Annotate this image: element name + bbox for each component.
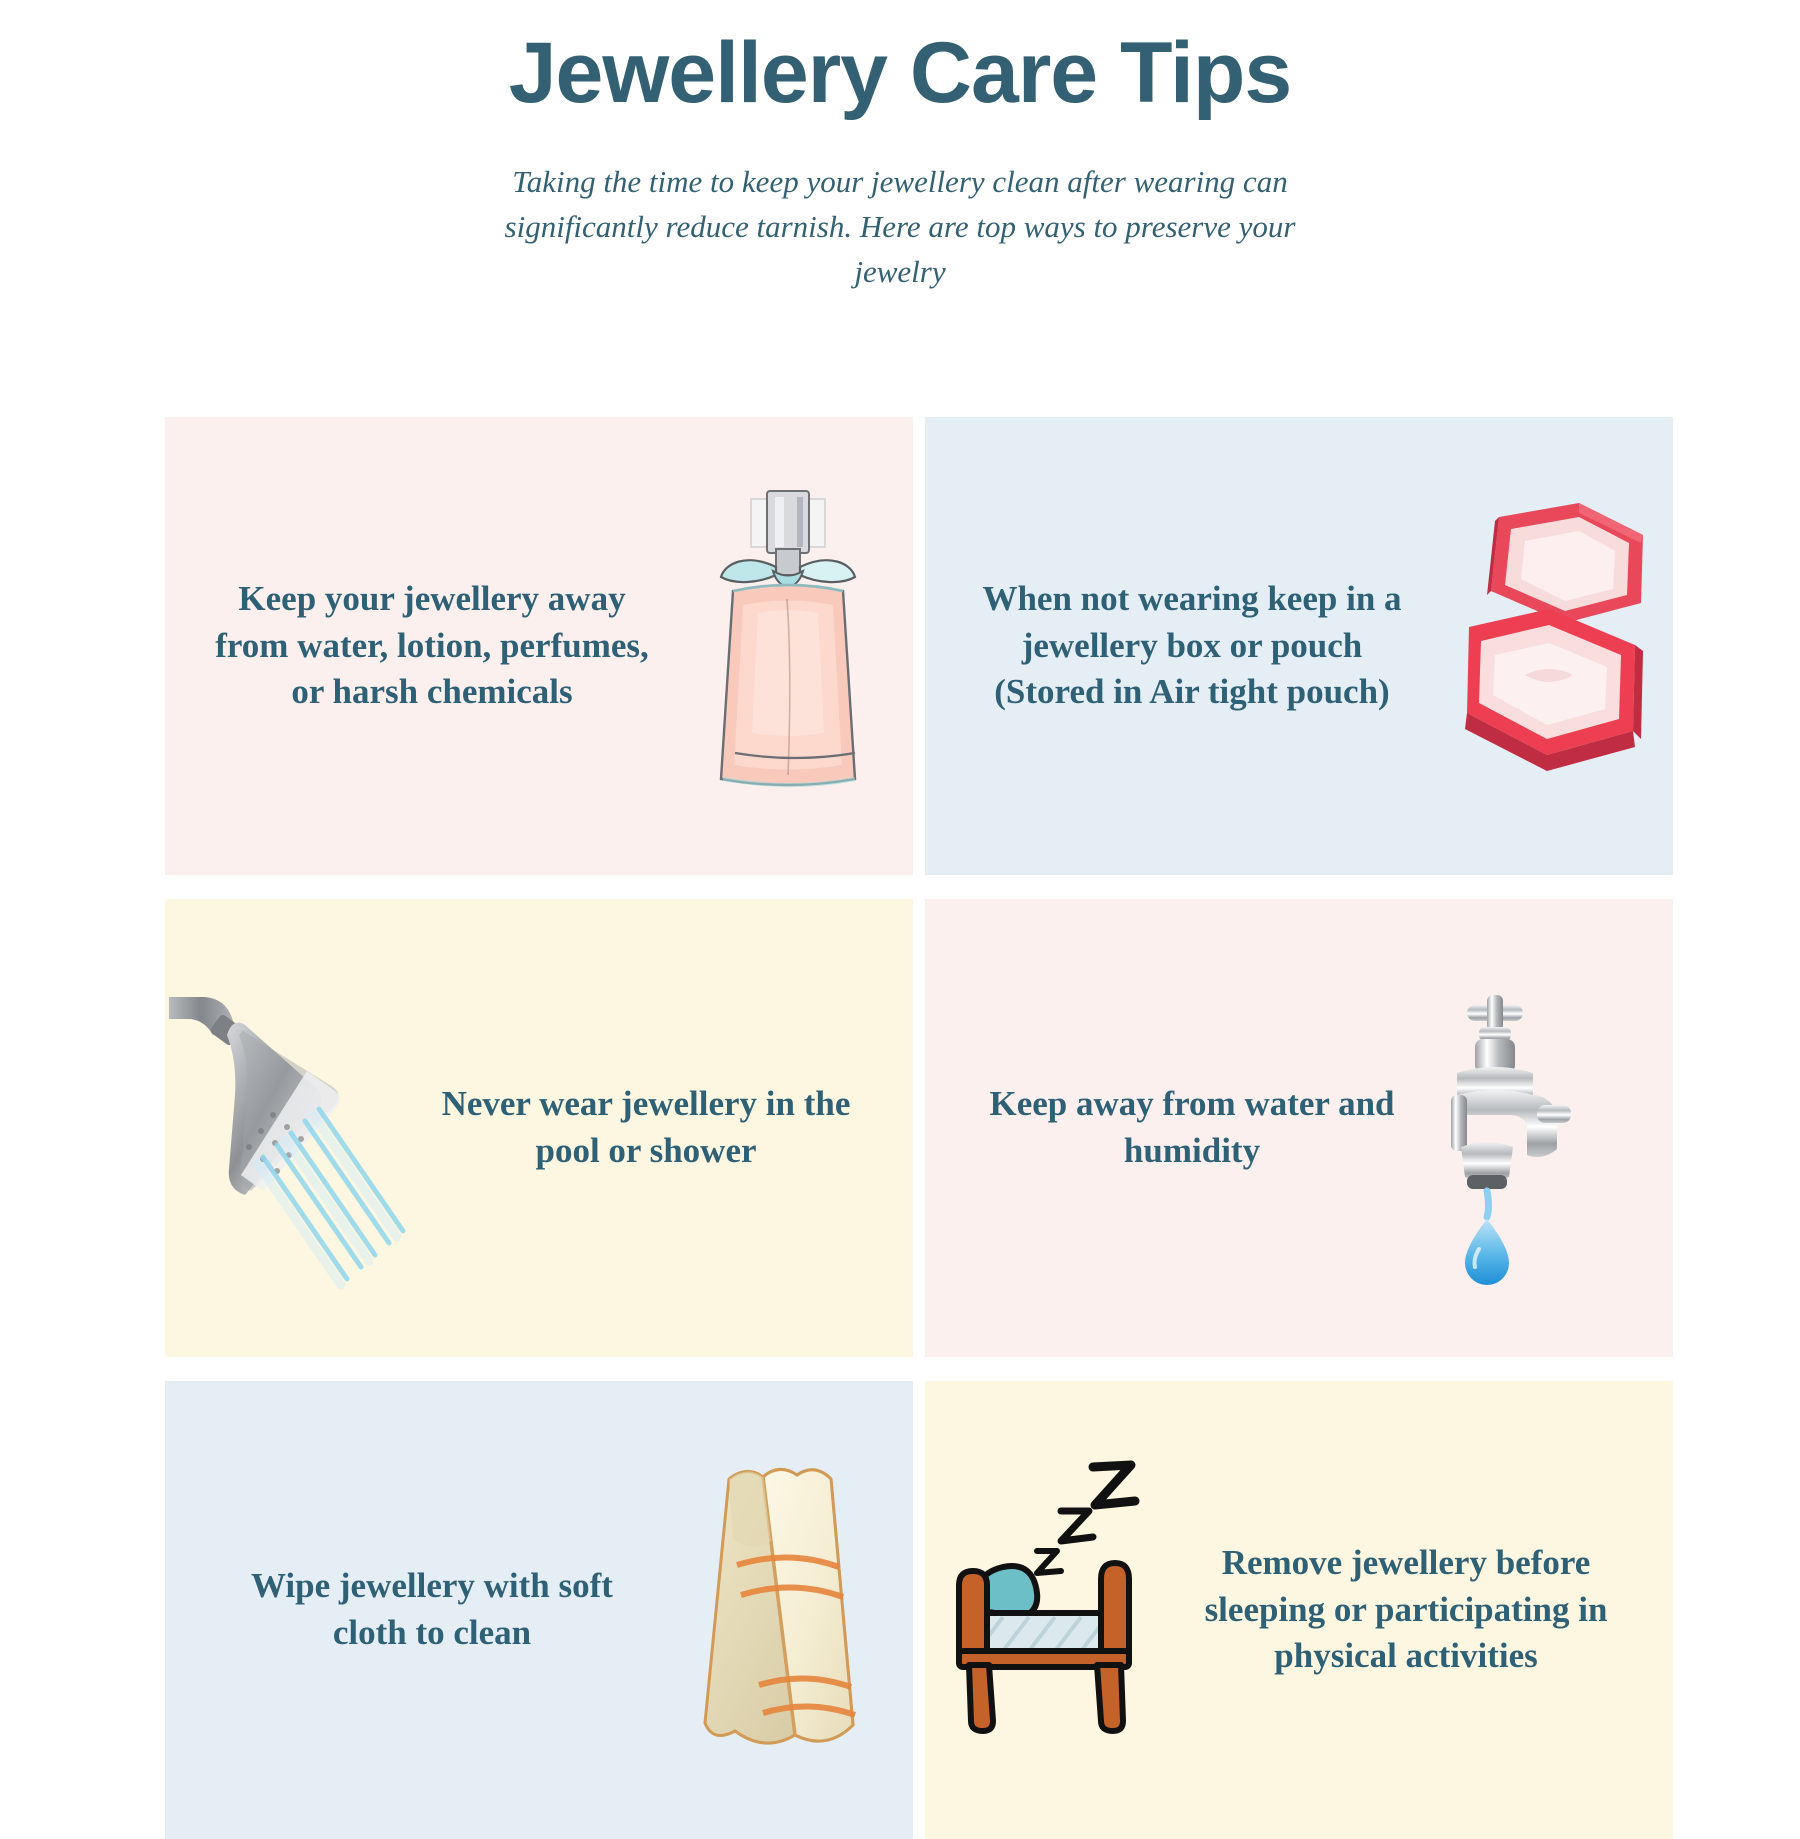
faucet-icon [1423,963,1673,1293]
infographic-page: Jewellery Care Tips Taking the time to k… [0,0,1800,1800]
tip-card-avoid-water-humidity: Keep away from water and humidity [925,899,1673,1357]
bed-sleeping-icon [925,1445,1175,1775]
tips-grid: Keep your jewellery away from water, lot… [165,417,1665,1839]
shower-head-icon [165,963,415,1293]
perfume-bottle-icon [663,481,913,811]
tip-card-wipe-with-cloth: Wipe jewellery with soft cloth to clean [165,1381,913,1839]
tip-card-remove-before-sleep: Remove jewellery before sleeping or part… [925,1381,1673,1839]
tip-text: Keep away from water and humidity [925,1081,1423,1174]
header: Jewellery Care Tips Taking the time to k… [0,0,1800,295]
tip-card-store-in-box: When not wearing keep in a jewellery box… [925,417,1673,875]
handkerchief-icon [663,1445,913,1775]
page-subtitle: Taking the time to keep your jewellery c… [500,160,1300,295]
tip-text: Never wear jewellery in the pool or show… [415,1081,913,1174]
tip-text: When not wearing keep in a jewellery box… [925,576,1423,716]
tip-text: Keep your jewellery away from water, lot… [165,576,663,716]
tip-text: Remove jewellery before sleeping or part… [1175,1540,1673,1680]
tip-card-no-pool-or-shower: Never wear jewellery in the pool or show… [165,899,913,1357]
jewellery-box-icon [1423,481,1673,811]
tip-text: Wipe jewellery with soft cloth to clean [165,1563,663,1656]
tip-card-avoid-chemicals: Keep your jewellery away from water, lot… [165,417,913,875]
page-title: Jewellery Care Tips [0,28,1800,118]
